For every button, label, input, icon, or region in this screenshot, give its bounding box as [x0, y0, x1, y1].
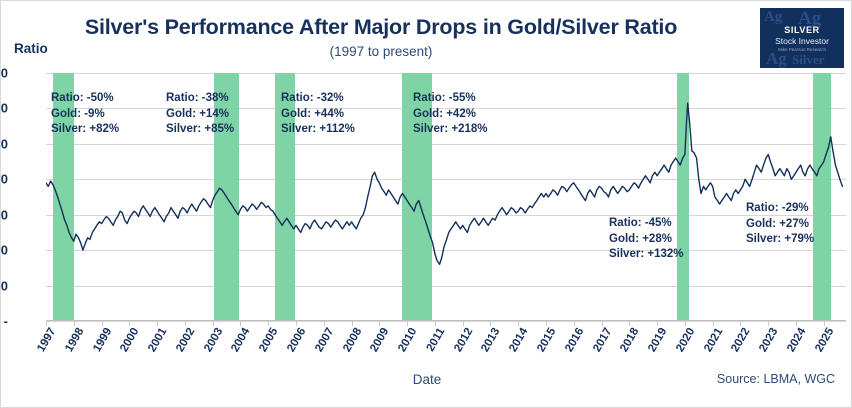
x-tick-label: 2025: [809, 326, 836, 361]
x-tick-label: 2002: [170, 326, 197, 361]
drop-annotation: Ratio: -45%Gold: +28%Silver: +132%: [609, 216, 683, 263]
x-tick-label: 2005: [253, 326, 280, 361]
x-tick-mark: [713, 321, 714, 326]
y-tick-label: 60: [0, 207, 8, 222]
x-tick-label: 2009: [364, 326, 391, 361]
drop-annotation: Ratio: -50%Gold: -9%Silver: +82%: [51, 91, 119, 138]
gridline: [46, 321, 846, 322]
y-tick-label: 20: [0, 278, 8, 293]
x-tick-label: 1998: [59, 326, 86, 361]
y-tick-label: 40: [0, 243, 8, 258]
y-axis-title: Ratio: [14, 41, 48, 56]
y-tick-label: 120: [0, 101, 8, 116]
silver-stock-investor-logo[interactable]: Ag Ag Ag Silver SILVER Stock Investor Mi…: [760, 8, 844, 68]
x-tick-label: 2013: [475, 326, 502, 361]
annotation-gold-line: Gold: +14%: [166, 107, 234, 123]
drop-annotation: Ratio: -29%Gold: +27%Silver: +79%: [746, 201, 814, 248]
annotation-gold-line: Gold: +44%: [281, 107, 355, 123]
logo-tagline-text: Mike Pearson Research: [760, 47, 844, 52]
x-tick-label: 2019: [642, 326, 669, 361]
x-tick-mark: [213, 321, 214, 326]
annotation-silver-line: Silver: +79%: [746, 232, 814, 248]
drop-annotation: Ratio: -32%Gold: +44%Silver: +112%: [281, 91, 355, 138]
x-tick-mark: [296, 321, 297, 326]
annotation-silver-line: Silver: +85%: [166, 122, 234, 138]
x-tick-label: 2021: [698, 326, 725, 361]
x-tick-label: 2000: [114, 326, 141, 361]
x-tick-label: 1999: [87, 326, 114, 361]
x-tick-mark: [824, 321, 825, 326]
x-tick-mark: [796, 321, 797, 326]
y-tick-label: -: [0, 314, 8, 329]
x-tick-label: 2020: [670, 326, 697, 361]
x-tick-label: 2017: [587, 326, 614, 361]
x-tick-mark: [74, 321, 75, 326]
x-tick-mark: [46, 321, 47, 326]
x-tick-mark: [574, 321, 575, 326]
annotation-gold-line: Gold: -9%: [51, 107, 119, 123]
chart-subtitle: (1997 to present): [1, 44, 761, 59]
x-tick-label: 2016: [559, 326, 586, 361]
x-tick-mark: [352, 321, 353, 326]
x-tick-mark: [185, 321, 186, 326]
x-tick-label: 2022: [725, 326, 752, 361]
annotation-silver-line: Silver: +132%: [609, 247, 683, 263]
x-tick-label: 2011: [420, 326, 447, 361]
page-title: Silver's Performance After Major Drops i…: [1, 15, 761, 40]
x-tick-label: 2014: [503, 326, 530, 361]
logo-subtitle-text: Stock Investor: [760, 36, 844, 46]
annotation-ratio-line: Ratio: -50%: [51, 91, 119, 107]
x-tick-label: 2008: [337, 326, 364, 361]
x-tick-label: 2024: [781, 326, 808, 361]
x-tick-label: 2004: [225, 326, 252, 361]
axis-baseline: [46, 320, 846, 321]
chart-card: Silver's Performance After Major Drops i…: [0, 0, 852, 408]
x-tick-mark: [602, 321, 603, 326]
y-tick-label: 80: [0, 172, 8, 187]
x-tick-mark: [463, 321, 464, 326]
annotation-ratio-line: Ratio: -38%: [166, 91, 234, 107]
y-tick-label: 100: [0, 136, 8, 151]
x-tick-label: 1997: [31, 326, 58, 361]
x-tick-label: 2003: [198, 326, 225, 361]
drop-annotation: Ratio: -38%Gold: +14%Silver: +85%: [166, 91, 234, 138]
x-tick-mark: [435, 321, 436, 326]
x-tick-label: 2006: [281, 326, 308, 361]
logo-glyph-silver: Silver: [792, 52, 825, 68]
annotation-silver-line: Silver: +112%: [281, 122, 355, 138]
annotation-ratio-line: Ratio: -55%: [413, 91, 487, 107]
x-tick-mark: [685, 321, 686, 326]
annotation-gold-line: Gold: +42%: [413, 107, 487, 123]
x-tick-label: 2001: [142, 326, 169, 361]
annotation-ratio-line: Ratio: -45%: [609, 216, 683, 232]
x-tick-label: 2023: [753, 326, 780, 361]
x-tick-mark: [546, 321, 547, 326]
logo-glyph-ag-1: Ag: [764, 9, 782, 26]
x-tick-label: 2007: [309, 326, 336, 361]
x-tick-label: 2010: [392, 326, 419, 361]
annotation-silver-line: Silver: +82%: [51, 122, 119, 138]
annotation-silver-line: Silver: +218%: [413, 122, 487, 138]
drop-annotation: Ratio: -55%Gold: +42%Silver: +218%: [413, 91, 487, 138]
x-tick-label: 2015: [531, 326, 558, 361]
x-tick-mark: [324, 321, 325, 326]
logo-brand-text: SILVER: [760, 25, 844, 35]
x-tick-label: 2012: [448, 326, 475, 361]
y-tick-label: 140: [0, 66, 8, 81]
annotation-ratio-line: Ratio: -32%: [281, 91, 355, 107]
annotation-gold-line: Gold: +27%: [746, 217, 814, 233]
annotation-ratio-line: Ratio: -29%: [746, 201, 814, 217]
annotation-gold-line: Gold: +28%: [609, 232, 683, 248]
x-tick-label: 2018: [614, 326, 641, 361]
source-note: Source: LBMA, WGC: [717, 372, 835, 386]
x-tick-mark: [102, 321, 103, 326]
